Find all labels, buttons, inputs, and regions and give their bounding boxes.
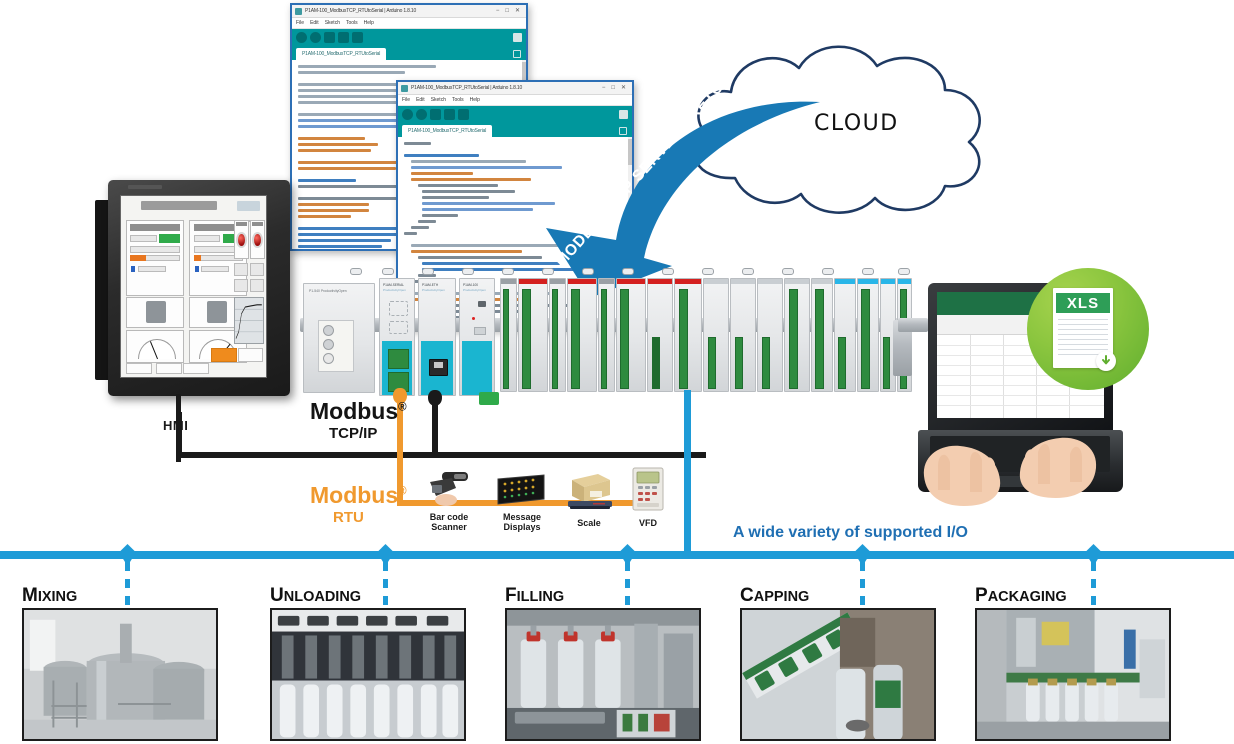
hmi-footer-button-alarms[interactable]: [183, 363, 209, 375]
io-module[interactable]: [598, 278, 615, 392]
hmi-footer-button-start-batch[interactable]: [211, 348, 237, 362]
hmi-lamp-header: [252, 222, 263, 225]
io-module[interactable]: [834, 278, 856, 392]
menu-edit[interactable]: Edit: [310, 20, 319, 26]
io-caption: A wide variety of supported I/O: [733, 524, 968, 542]
serial-terminal-block[interactable]: [388, 349, 409, 369]
hmi-value-field: [130, 246, 179, 253]
ide-window-title: P1AM-100_ModbusTCP_RTUtoSerial | Arduino…: [305, 8, 493, 14]
hmi-footer-button-home[interactable]: [126, 363, 152, 375]
usb-port-icon[interactable]: [478, 301, 486, 307]
maximize-icon[interactable]: □: [505, 8, 509, 14]
menu-help[interactable]: Help: [364, 20, 374, 26]
process-label-packaging: PACKAGING: [975, 585, 1067, 607]
process-photo-capping[interactable]: [740, 608, 936, 741]
io-module[interactable]: [757, 278, 783, 392]
hmi-checkbox[interactable]: [131, 266, 135, 272]
module-clip: [702, 268, 714, 275]
hmi-slider-fill: [130, 255, 146, 261]
caption-line-1: VFD: [639, 518, 657, 528]
io-module[interactable]: [616, 278, 646, 392]
label-rest: NLOADING: [284, 589, 361, 605]
label-initial: M: [22, 585, 38, 606]
hmi-zone-header: [130, 224, 179, 231]
hmi-checkbox[interactable]: [195, 266, 199, 272]
upload-icon[interactable]: [310, 32, 321, 43]
io-module[interactable]: [730, 278, 756, 392]
arduino-icon: [295, 8, 302, 15]
plc-base-label: P1-540 ProductivityOpen: [309, 289, 347, 293]
module-clip: [898, 268, 910, 275]
module-clip: [822, 268, 834, 275]
io-module-rack: [500, 276, 912, 396]
ide-tabstrip[interactable]: P1AM-100_ModbusTCP_RTUtoSerial: [292, 46, 526, 60]
hmi-trend-chart[interactable]: [234, 297, 264, 344]
hmi-gauge-needle: [150, 341, 158, 359]
module-clip: [382, 268, 394, 275]
vfd-caption: VFD: [613, 518, 683, 528]
save-sketch-icon[interactable]: [352, 32, 363, 43]
module-clip: [462, 268, 474, 275]
module-sublabel: ProductivityOpen: [422, 288, 445, 292]
plc-screw-terminal: [323, 353, 334, 364]
barcode-scanner-icon: [422, 470, 476, 506]
hmi-value-field: [194, 235, 221, 242]
tab-menu-icon[interactable]: [513, 50, 521, 58]
io-module[interactable]: [811, 278, 833, 392]
io-module[interactable]: [518, 278, 548, 392]
module-clip: [542, 268, 554, 275]
right-hand: [1008, 428, 1100, 500]
caption-line-1: Message: [503, 512, 541, 522]
modbus-tcpip-sub: TCP/IP: [329, 425, 377, 442]
ide-tab-sketch[interactable]: P1AM-100_ModbusTCP_RTUtoSerial: [296, 48, 386, 60]
hmi-readout: [234, 279, 248, 292]
hmi-motor-icon: [207, 301, 227, 323]
hmi-slider-fill: [194, 255, 202, 261]
io-module[interactable]: [500, 278, 517, 392]
process-label-mixing: MIXING: [22, 585, 77, 607]
hmi-footer-button-setup[interactable]: [156, 363, 182, 375]
process-photo-mixing[interactable]: [22, 608, 218, 741]
hmi-lamp-header: [236, 222, 247, 225]
module-clip: [782, 268, 794, 275]
minimize-icon[interactable]: −: [496, 8, 500, 14]
open-sketch-icon[interactable]: [338, 32, 349, 43]
save-sketch-icon[interactable]: [458, 109, 469, 120]
hmi-readout: [250, 279, 264, 292]
verify-icon[interactable]: [402, 109, 413, 120]
barcode-scanner-caption: Bar code Scanner: [414, 512, 484, 532]
menu-help[interactable]: Help: [470, 97, 480, 103]
timeline-connector: [125, 562, 130, 614]
hmi-zone-panel-left[interactable]: [126, 220, 184, 296]
io-timeline-wire: [684, 390, 691, 558]
module-sublabel: ProductivityOpen: [383, 288, 406, 292]
io-module[interactable]: [567, 278, 597, 392]
message-display-icon: [496, 473, 548, 507]
close-icon[interactable]: ✕: [515, 8, 520, 14]
process-photo-filling[interactable]: [505, 608, 701, 741]
module-clip: [662, 268, 674, 275]
process-photo-unloading[interactable]: [270, 608, 466, 741]
module-clip: [742, 268, 754, 275]
left-hand: [920, 436, 1006, 508]
module-print-area: [389, 301, 408, 316]
download-icon[interactable]: [1096, 351, 1116, 371]
ide-menubar[interactable]: File Edit Sketch Tools Help: [292, 18, 526, 29]
hmi-readout: [234, 263, 248, 276]
reset-button[interactable]: [474, 327, 486, 335]
timeline-connector: [383, 562, 388, 614]
caption-line-1: Scale: [577, 518, 601, 528]
io-module[interactable]: [549, 278, 566, 392]
modbus-tcpip-name: Modbus: [310, 398, 398, 424]
label-initial: C: [740, 585, 754, 606]
modbus-rtu-sub: RTU: [333, 509, 364, 526]
modbus-rtu-label: Modbus®: [310, 482, 407, 509]
module-label: P1AM-SERIAL: [383, 283, 404, 287]
menu-sketch[interactable]: Sketch: [431, 97, 446, 103]
network-bus-horizontal: [176, 452, 706, 458]
hmi-checkbox-label: [201, 266, 229, 272]
module-clip: [622, 268, 634, 275]
module-label: P1AM-100: [463, 283, 478, 287]
module-clip: [422, 268, 434, 275]
registered-mark: ®: [398, 485, 406, 497]
new-sketch-icon[interactable]: [324, 32, 335, 43]
caption-line-1: Bar code: [430, 512, 469, 522]
arduino-icon: [401, 85, 408, 92]
plc-module-serial[interactable]: P1AM-SERIAL ProductivityOpen: [379, 278, 415, 396]
module-clip: [350, 268, 362, 275]
label-initial: F: [505, 585, 517, 606]
plc-screw-terminal: [323, 339, 334, 350]
label-initial: P: [975, 585, 988, 606]
timeline-bar: [0, 551, 1234, 559]
hmi-screen-titlebar: [141, 201, 216, 210]
timeline-connector: [625, 562, 630, 614]
diagram-canvas: P1AM-100_ModbusTCP_RTUtoSerial | Arduino…: [0, 0, 1234, 744]
scale-icon: [562, 468, 616, 510]
open-sketch-icon[interactable]: [444, 109, 455, 120]
process-label-capping: CAPPING: [740, 585, 809, 607]
hmi-status-indicator: [159, 234, 179, 243]
ethernet-port-icon[interactable]: [429, 359, 448, 376]
process-label-unloading: UNLOADING: [270, 585, 361, 607]
timeline-connector: [1091, 562, 1096, 614]
menu-tools[interactable]: Tools: [452, 97, 464, 103]
label-initial: U: [270, 585, 284, 606]
process-label-filling: FILLING: [505, 585, 564, 607]
plc-power-base[interactable]: P1-540 ProductivityOpen: [303, 283, 375, 393]
hmi-checkbox-label: [138, 266, 166, 272]
io-module[interactable]: [784, 278, 810, 392]
module-faceplate: [462, 341, 492, 395]
ide-tab-sketch[interactable]: P1AM-100_ModbusTCP_RTUtoSerial: [402, 125, 492, 137]
io-green-connector: [479, 392, 499, 405]
label-rest: IXING: [38, 589, 77, 605]
vfd-icon: [629, 467, 667, 512]
hmi-motor-icon: [146, 301, 166, 323]
hmi-to-bus-wire: [176, 412, 182, 456]
module-clip-row: [350, 268, 912, 278]
plc-module-ethernet[interactable]: P1AM-ETH ProductivityOpen: [418, 278, 456, 396]
menu-file[interactable]: File: [402, 97, 410, 103]
io-module[interactable]: [857, 278, 879, 392]
message-display-caption: Message Displays: [487, 512, 557, 532]
module-clip: [862, 268, 874, 275]
menu-file[interactable]: File: [296, 20, 304, 26]
new-sketch-icon[interactable]: [430, 109, 441, 120]
hmi-value-field: [130, 235, 157, 242]
io-module[interactable]: [647, 278, 673, 392]
module-print-area: [389, 321, 408, 334]
hmi-readout: [250, 263, 264, 276]
module-label: P1AM-ETH: [422, 283, 438, 287]
plc-module-cpu[interactable]: P1AM-100 ProductivityOpen: [459, 278, 495, 396]
window-controls[interactable]: − □ ✕: [496, 8, 523, 14]
status-led: [472, 317, 475, 320]
hmi-footer-button-exit[interactable]: [238, 348, 263, 362]
module-sublabel: ProductivityOpen: [463, 288, 486, 292]
ide-titlebar: P1AM-100_ModbusTCP_RTUtoSerial | Arduino…: [292, 5, 526, 18]
caption-line-2: Displays: [503, 522, 540, 532]
modbus-tcpip-label: Modbus®: [310, 398, 407, 425]
hmi-screen[interactable]: [120, 195, 267, 378]
menu-edit[interactable]: Edit: [416, 97, 425, 103]
caption-line-2: Scanner: [431, 522, 467, 532]
io-module[interactable]: [674, 278, 702, 392]
modbus-rtu-name: Modbus: [310, 482, 398, 508]
hmi-panel[interactable]: [108, 180, 290, 396]
serial-monitor-icon[interactable]: [513, 33, 522, 42]
xls-label: XLS: [1056, 293, 1110, 313]
registered-mark: ®: [398, 401, 406, 413]
menu-tools[interactable]: Tools: [346, 20, 358, 26]
din-rail-right: [898, 318, 928, 332]
ethernet-plug: [428, 390, 442, 406]
label-rest: APPING: [754, 589, 810, 605]
hmi-brand-strip: [128, 185, 162, 189]
hmi-logo: [237, 201, 260, 212]
module-clip: [502, 268, 514, 275]
upload-icon[interactable]: [416, 109, 427, 120]
menu-sketch[interactable]: Sketch: [325, 20, 340, 26]
timeline-connector: [860, 562, 865, 614]
ide-toolbar[interactable]: [292, 29, 526, 46]
plc-screw-terminal: [323, 325, 334, 336]
io-module[interactable]: [703, 278, 729, 392]
label-rest: ILLING: [517, 589, 565, 605]
label-rest: ACKAGING: [988, 589, 1067, 605]
module-clip: [582, 268, 594, 275]
verify-icon[interactable]: [296, 32, 307, 43]
process-photo-packaging[interactable]: [975, 608, 1171, 741]
